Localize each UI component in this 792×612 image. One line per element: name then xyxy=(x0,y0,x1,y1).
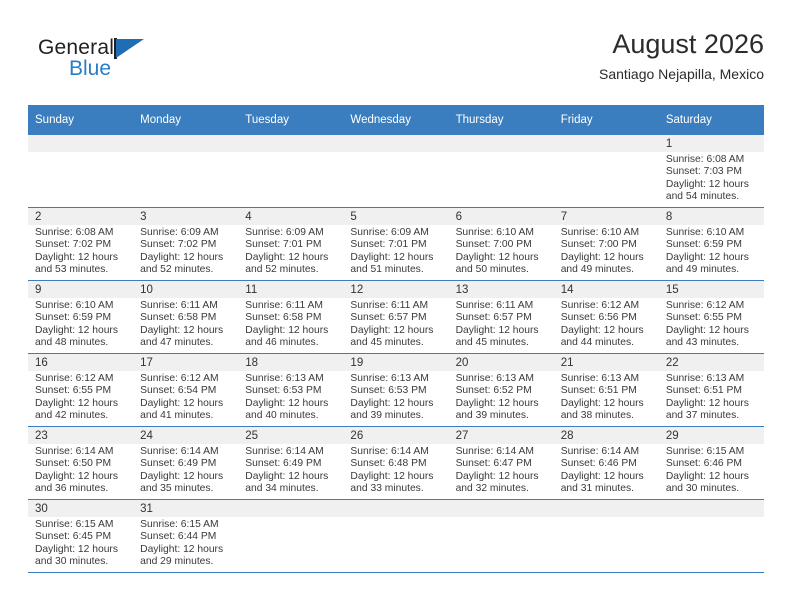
calendar-day-cell[interactable]: 9Sunrise: 6:10 AMSunset: 6:59 PMDaylight… xyxy=(28,281,133,354)
day-number: 9 xyxy=(28,281,133,298)
sunset-time: Sunset: 6:59 PM xyxy=(35,312,129,324)
sunrise-time: Sunrise: 6:12 AM xyxy=(140,373,234,385)
daylight-duration-line2: and 39 minutes. xyxy=(350,410,444,422)
calendar-day-cell[interactable]: 25Sunrise: 6:14 AMSunset: 6:49 PMDayligh… xyxy=(238,427,343,500)
sunrise-time: Sunrise: 6:13 AM xyxy=(456,373,550,385)
calendar-page: General Blue August 2026 Santiago Nejapi… xyxy=(0,0,792,612)
sunset-time: Sunset: 6:45 PM xyxy=(35,531,129,543)
sunset-time: Sunset: 7:00 PM xyxy=(456,239,550,251)
day-sun-details: Sunrise: 6:09 AMSunset: 7:01 PMDaylight:… xyxy=(343,225,448,277)
daylight-duration-line1: Daylight: 12 hours xyxy=(350,471,444,483)
calendar-day-cell[interactable]: 30Sunrise: 6:15 AMSunset: 6:45 PMDayligh… xyxy=(28,500,133,573)
day-sun-details: Sunrise: 6:11 AMSunset: 6:58 PMDaylight:… xyxy=(238,298,343,350)
day-number: 20 xyxy=(449,354,554,371)
day-number: 24 xyxy=(133,427,238,444)
sunrise-time: Sunrise: 6:11 AM xyxy=(140,300,234,312)
sunrise-time: Sunrise: 6:12 AM xyxy=(666,300,760,312)
daylight-duration-line2: and 34 minutes. xyxy=(245,483,339,495)
day-number xyxy=(238,500,343,517)
day-sun-details: Sunrise: 6:13 AMSunset: 6:53 PMDaylight:… xyxy=(343,371,448,423)
day-number: 6 xyxy=(449,208,554,225)
day-number: 25 xyxy=(238,427,343,444)
day-number: 8 xyxy=(659,208,764,225)
day-number: 3 xyxy=(133,208,238,225)
calendar-day-cell[interactable]: 17Sunrise: 6:12 AMSunset: 6:54 PMDayligh… xyxy=(133,354,238,427)
day-sun-details: Sunrise: 6:09 AMSunset: 7:01 PMDaylight:… xyxy=(238,225,343,277)
calendar-day-cell[interactable]: 15Sunrise: 6:12 AMSunset: 6:55 PMDayligh… xyxy=(659,281,764,354)
day-number: 23 xyxy=(28,427,133,444)
calendar-day-cell-empty xyxy=(133,135,238,208)
daylight-duration-line2: and 52 minutes. xyxy=(245,264,339,276)
daylight-duration-line1: Daylight: 12 hours xyxy=(350,398,444,410)
daylight-duration-line1: Daylight: 12 hours xyxy=(35,471,129,483)
sunrise-time: Sunrise: 6:14 AM xyxy=(456,446,550,458)
daylight-duration-line2: and 46 minutes. xyxy=(245,337,339,349)
weekday-header-friday: Friday xyxy=(554,105,659,135)
day-sun-details: Sunrise: 6:14 AMSunset: 6:47 PMDaylight:… xyxy=(449,444,554,496)
sunrise-time: Sunrise: 6:11 AM xyxy=(350,300,444,312)
daylight-duration-line2: and 39 minutes. xyxy=(456,410,550,422)
day-sun-details: Sunrise: 6:10 AMSunset: 7:00 PMDaylight:… xyxy=(554,225,659,277)
weekday-header-tuesday: Tuesday xyxy=(238,105,343,135)
day-sun-details: Sunrise: 6:11 AMSunset: 6:57 PMDaylight:… xyxy=(449,298,554,350)
calendar-week-row: 9Sunrise: 6:10 AMSunset: 6:59 PMDaylight… xyxy=(28,281,764,354)
sunset-time: Sunset: 6:58 PM xyxy=(140,312,234,324)
daylight-duration-line2: and 49 minutes. xyxy=(666,264,760,276)
day-sun-details: Sunrise: 6:14 AMSunset: 6:46 PMDaylight:… xyxy=(554,444,659,496)
daylight-duration-line2: and 37 minutes. xyxy=(666,410,760,422)
calendar-week-row: 30Sunrise: 6:15 AMSunset: 6:45 PMDayligh… xyxy=(28,500,764,573)
day-number xyxy=(449,500,554,517)
daylight-duration-line1: Daylight: 12 hours xyxy=(140,544,234,556)
day-sun-details: Sunrise: 6:12 AMSunset: 6:54 PMDaylight:… xyxy=(133,371,238,423)
sunset-time: Sunset: 6:55 PM xyxy=(666,312,760,324)
daylight-duration-line2: and 41 minutes. xyxy=(140,410,234,422)
daylight-duration-line1: Daylight: 12 hours xyxy=(35,398,129,410)
calendar-day-cell-empty xyxy=(28,135,133,208)
calendar-day-cell[interactable]: 11Sunrise: 6:11 AMSunset: 6:58 PMDayligh… xyxy=(238,281,343,354)
day-number xyxy=(343,135,448,152)
daylight-duration-line1: Daylight: 12 hours xyxy=(561,325,655,337)
day-number: 13 xyxy=(449,281,554,298)
day-number: 1 xyxy=(659,135,764,152)
daylight-duration-line2: and 33 minutes. xyxy=(350,483,444,495)
day-number: 19 xyxy=(343,354,448,371)
sunrise-time: Sunrise: 6:09 AM xyxy=(140,227,234,239)
daylight-duration-line2: and 45 minutes. xyxy=(350,337,444,349)
sunset-time: Sunset: 6:53 PM xyxy=(350,385,444,397)
sunset-time: Sunset: 6:57 PM xyxy=(350,312,444,324)
daylight-duration-line2: and 35 minutes. xyxy=(140,483,234,495)
daylight-duration-line2: and 29 minutes. xyxy=(140,556,234,568)
calendar-day-cell-empty xyxy=(449,500,554,573)
logo-triangle-icon xyxy=(116,39,144,58)
weekday-header-monday: Monday xyxy=(133,105,238,135)
daylight-duration-line1: Daylight: 12 hours xyxy=(245,252,339,264)
day-sun-details: Sunrise: 6:08 AMSunset: 7:03 PMDaylight:… xyxy=(659,152,764,204)
day-sun-details: Sunrise: 6:14 AMSunset: 6:49 PMDaylight:… xyxy=(238,444,343,496)
daylight-duration-line1: Daylight: 12 hours xyxy=(35,325,129,337)
daylight-duration-line1: Daylight: 12 hours xyxy=(140,471,234,483)
day-number: 30 xyxy=(28,500,133,517)
daylight-duration-line1: Daylight: 12 hours xyxy=(561,471,655,483)
daylight-duration-line2: and 43 minutes. xyxy=(666,337,760,349)
sunset-time: Sunset: 6:46 PM xyxy=(561,458,655,470)
day-sun-details: Sunrise: 6:11 AMSunset: 6:57 PMDaylight:… xyxy=(343,298,448,350)
day-sun-details: Sunrise: 6:14 AMSunset: 6:49 PMDaylight:… xyxy=(133,444,238,496)
day-number: 14 xyxy=(554,281,659,298)
daylight-duration-line2: and 45 minutes. xyxy=(456,337,550,349)
daylight-duration-line2: and 50 minutes. xyxy=(456,264,550,276)
daylight-duration-line2: and 44 minutes. xyxy=(561,337,655,349)
calendar-day-cell[interactable]: 26Sunrise: 6:14 AMSunset: 6:48 PMDayligh… xyxy=(343,427,448,500)
calendar-day-cell-empty xyxy=(238,135,343,208)
day-number: 21 xyxy=(554,354,659,371)
calendar-day-cell[interactable]: 10Sunrise: 6:11 AMSunset: 6:58 PMDayligh… xyxy=(133,281,238,354)
sunset-time: Sunset: 7:01 PM xyxy=(350,239,444,251)
day-sun-details: Sunrise: 6:15 AMSunset: 6:45 PMDaylight:… xyxy=(28,517,133,569)
daylight-duration-line2: and 54 minutes. xyxy=(666,191,760,203)
daylight-duration-line1: Daylight: 12 hours xyxy=(140,398,234,410)
sunrise-time: Sunrise: 6:14 AM xyxy=(35,446,129,458)
day-sun-details: Sunrise: 6:08 AMSunset: 7:02 PMDaylight:… xyxy=(28,225,133,277)
sunrise-time: Sunrise: 6:10 AM xyxy=(456,227,550,239)
day-number: 31 xyxy=(133,500,238,517)
sunrise-time: Sunrise: 6:15 AM xyxy=(140,519,234,531)
daylight-duration-line1: Daylight: 12 hours xyxy=(561,252,655,264)
day-number xyxy=(238,135,343,152)
sunset-time: Sunset: 7:02 PM xyxy=(35,239,129,251)
sunset-time: Sunset: 6:49 PM xyxy=(245,458,339,470)
daylight-duration-line1: Daylight: 12 hours xyxy=(35,252,129,264)
calendar-day-cell[interactable]: 18Sunrise: 6:13 AMSunset: 6:53 PMDayligh… xyxy=(238,354,343,427)
daylight-duration-line1: Daylight: 12 hours xyxy=(35,544,129,556)
sunset-time: Sunset: 6:51 PM xyxy=(666,385,760,397)
calendar-day-cell[interactable]: 20Sunrise: 6:13 AMSunset: 6:52 PMDayligh… xyxy=(449,354,554,427)
day-number xyxy=(659,500,764,517)
weekday-header-row: Sunday Monday Tuesday Wednesday Thursday… xyxy=(28,105,764,135)
page-title: August 2026 xyxy=(599,28,764,60)
sunset-time: Sunset: 6:57 PM xyxy=(456,312,550,324)
sunset-time: Sunset: 6:52 PM xyxy=(456,385,550,397)
sunrise-time: Sunrise: 6:13 AM xyxy=(350,373,444,385)
calendar-week-row: 16Sunrise: 6:12 AMSunset: 6:55 PMDayligh… xyxy=(28,354,764,427)
day-number xyxy=(554,500,659,517)
sunrise-time: Sunrise: 6:13 AM xyxy=(561,373,655,385)
daylight-duration-line1: Daylight: 12 hours xyxy=(561,398,655,410)
daylight-duration-line1: Daylight: 12 hours xyxy=(245,471,339,483)
sunrise-time: Sunrise: 6:11 AM xyxy=(456,300,550,312)
sunrise-time: Sunrise: 6:15 AM xyxy=(35,519,129,531)
sunset-time: Sunset: 6:44 PM xyxy=(140,531,234,543)
daylight-duration-line2: and 31 minutes. xyxy=(561,483,655,495)
day-number: 10 xyxy=(133,281,238,298)
daylight-duration-line1: Daylight: 12 hours xyxy=(245,398,339,410)
calendar-week-row: 2Sunrise: 6:08 AMSunset: 7:02 PMDaylight… xyxy=(28,208,764,281)
sunset-time: Sunset: 6:58 PM xyxy=(245,312,339,324)
daylight-duration-line1: Daylight: 12 hours xyxy=(456,325,550,337)
daylight-duration-line2: and 32 minutes. xyxy=(456,483,550,495)
daylight-duration-line2: and 40 minutes. xyxy=(245,410,339,422)
day-sun-details: Sunrise: 6:14 AMSunset: 6:48 PMDaylight:… xyxy=(343,444,448,496)
calendar-day-cell[interactable]: 4Sunrise: 6:09 AMSunset: 7:01 PMDaylight… xyxy=(238,208,343,281)
sunrise-time: Sunrise: 6:08 AM xyxy=(35,227,129,239)
day-number: 27 xyxy=(449,427,554,444)
calendar-day-cell[interactable]: 14Sunrise: 6:12 AMSunset: 6:56 PMDayligh… xyxy=(554,281,659,354)
daylight-duration-line2: and 30 minutes. xyxy=(666,483,760,495)
day-number: 2 xyxy=(28,208,133,225)
day-number xyxy=(28,135,133,152)
day-number: 18 xyxy=(238,354,343,371)
day-number xyxy=(449,135,554,152)
sunset-time: Sunset: 6:56 PM xyxy=(561,312,655,324)
calendar-week-row: 23Sunrise: 6:14 AMSunset: 6:50 PMDayligh… xyxy=(28,427,764,500)
day-number: 28 xyxy=(554,427,659,444)
sunrise-time: Sunrise: 6:13 AM xyxy=(666,373,760,385)
sunrise-time: Sunrise: 6:14 AM xyxy=(350,446,444,458)
calendar-day-cell[interactable]: 12Sunrise: 6:11 AMSunset: 6:57 PMDayligh… xyxy=(343,281,448,354)
daylight-duration-line1: Daylight: 12 hours xyxy=(350,252,444,264)
day-number: 29 xyxy=(659,427,764,444)
calendar-day-cell[interactable]: 8Sunrise: 6:10 AMSunset: 6:59 PMDaylight… xyxy=(659,208,764,281)
day-sun-details: Sunrise: 6:15 AMSunset: 6:46 PMDaylight:… xyxy=(659,444,764,496)
day-sun-details: Sunrise: 6:10 AMSunset: 6:59 PMDaylight:… xyxy=(28,298,133,350)
day-sun-details: Sunrise: 6:14 AMSunset: 6:50 PMDaylight:… xyxy=(28,444,133,496)
day-sun-details: Sunrise: 6:12 AMSunset: 6:56 PMDaylight:… xyxy=(554,298,659,350)
sunrise-time: Sunrise: 6:09 AM xyxy=(350,227,444,239)
sunset-time: Sunset: 7:01 PM xyxy=(245,239,339,251)
sunrise-time: Sunrise: 6:12 AM xyxy=(35,373,129,385)
daylight-duration-line2: and 49 minutes. xyxy=(561,264,655,276)
day-sun-details: Sunrise: 6:13 AMSunset: 6:53 PMDaylight:… xyxy=(238,371,343,423)
daylight-duration-line2: and 53 minutes. xyxy=(35,264,129,276)
daylight-duration-line1: Daylight: 12 hours xyxy=(666,252,760,264)
sunset-time: Sunset: 6:53 PM xyxy=(245,385,339,397)
sunrise-time: Sunrise: 6:12 AM xyxy=(561,300,655,312)
weekday-header-thursday: Thursday xyxy=(449,105,554,135)
day-number: 12 xyxy=(343,281,448,298)
calendar-body: 1Sunrise: 6:08 AMSunset: 7:03 PMDaylight… xyxy=(28,135,764,573)
calendar-day-cell[interactable]: 27Sunrise: 6:14 AMSunset: 6:47 PMDayligh… xyxy=(449,427,554,500)
day-sun-details: Sunrise: 6:13 AMSunset: 6:52 PMDaylight:… xyxy=(449,371,554,423)
day-number: 11 xyxy=(238,281,343,298)
weekday-header-saturday: Saturday xyxy=(659,105,764,135)
daylight-duration-line2: and 30 minutes. xyxy=(35,556,129,568)
general-blue-logo: General Blue xyxy=(38,36,218,92)
day-number xyxy=(554,135,659,152)
calendar-day-cell-empty xyxy=(238,500,343,573)
day-number: 4 xyxy=(238,208,343,225)
day-sun-details: Sunrise: 6:09 AMSunset: 7:02 PMDaylight:… xyxy=(133,225,238,277)
sunset-time: Sunset: 6:49 PM xyxy=(140,458,234,470)
sunset-time: Sunset: 6:54 PM xyxy=(140,385,234,397)
daylight-duration-line1: Daylight: 12 hours xyxy=(350,325,444,337)
sunset-time: Sunset: 6:47 PM xyxy=(456,458,550,470)
calendar-day-cell-empty xyxy=(343,500,448,573)
calendar-day-cell[interactable]: 6Sunrise: 6:10 AMSunset: 7:00 PMDaylight… xyxy=(449,208,554,281)
weekday-header-wednesday: Wednesday xyxy=(343,105,448,135)
title-block: August 2026 Santiago Nejapilla, Mexico xyxy=(599,28,764,83)
sunrise-sunset-calendar: Sunday Monday Tuesday Wednesday Thursday… xyxy=(28,105,764,573)
page-subtitle: Santiago Nejapilla, Mexico xyxy=(599,65,764,83)
day-number: 16 xyxy=(28,354,133,371)
calendar-day-cell[interactable]: 31Sunrise: 6:15 AMSunset: 6:44 PMDayligh… xyxy=(133,500,238,573)
day-sun-details: Sunrise: 6:15 AMSunset: 6:44 PMDaylight:… xyxy=(133,517,238,569)
sunset-time: Sunset: 6:51 PM xyxy=(561,385,655,397)
sunrise-time: Sunrise: 6:13 AM xyxy=(245,373,339,385)
sunrise-time: Sunrise: 6:10 AM xyxy=(666,227,760,239)
daylight-duration-line1: Daylight: 12 hours xyxy=(456,252,550,264)
day-sun-details: Sunrise: 6:12 AMSunset: 6:55 PMDaylight:… xyxy=(659,298,764,350)
calendar-day-cell[interactable]: 19Sunrise: 6:13 AMSunset: 6:53 PMDayligh… xyxy=(343,354,448,427)
day-number: 15 xyxy=(659,281,764,298)
day-sun-details: Sunrise: 6:13 AMSunset: 6:51 PMDaylight:… xyxy=(659,371,764,423)
sunrise-time: Sunrise: 6:14 AM xyxy=(561,446,655,458)
calendar-day-cell[interactable]: 1Sunrise: 6:08 AMSunset: 7:03 PMDaylight… xyxy=(659,135,764,208)
daylight-duration-line1: Daylight: 12 hours xyxy=(245,325,339,337)
sunset-time: Sunset: 6:46 PM xyxy=(666,458,760,470)
calendar-day-cell[interactable]: 23Sunrise: 6:14 AMSunset: 6:50 PMDayligh… xyxy=(28,427,133,500)
calendar-day-cell[interactable]: 7Sunrise: 6:10 AMSunset: 7:00 PMDaylight… xyxy=(554,208,659,281)
daylight-duration-line2: and 38 minutes. xyxy=(561,410,655,422)
calendar-day-cell-empty xyxy=(343,135,448,208)
daylight-duration-line1: Daylight: 12 hours xyxy=(666,398,760,410)
calendar-day-cell[interactable]: 24Sunrise: 6:14 AMSunset: 6:49 PMDayligh… xyxy=(133,427,238,500)
daylight-duration-line1: Daylight: 12 hours xyxy=(456,471,550,483)
daylight-duration-line1: Daylight: 12 hours xyxy=(140,252,234,264)
daylight-duration-line2: and 52 minutes. xyxy=(140,264,234,276)
calendar-day-cell[interactable]: 13Sunrise: 6:11 AMSunset: 6:57 PMDayligh… xyxy=(449,281,554,354)
sunset-time: Sunset: 6:59 PM xyxy=(666,239,760,251)
calendar-day-cell[interactable]: 2Sunrise: 6:08 AMSunset: 7:02 PMDaylight… xyxy=(28,208,133,281)
sunrise-time: Sunrise: 6:14 AM xyxy=(245,446,339,458)
daylight-duration-line1: Daylight: 12 hours xyxy=(666,179,760,191)
daylight-duration-line2: and 51 minutes. xyxy=(350,264,444,276)
day-number: 17 xyxy=(133,354,238,371)
page-header: General Blue August 2026 Santiago Nejapi… xyxy=(28,28,764,98)
sunrise-time: Sunrise: 6:08 AM xyxy=(666,154,760,166)
day-number: 22 xyxy=(659,354,764,371)
sunset-time: Sunset: 7:00 PM xyxy=(561,239,655,251)
sunrise-time: Sunrise: 6:11 AM xyxy=(245,300,339,312)
day-number xyxy=(133,135,238,152)
calendar-day-cell[interactable]: 28Sunrise: 6:14 AMSunset: 6:46 PMDayligh… xyxy=(554,427,659,500)
daylight-duration-line2: and 42 minutes. xyxy=(35,410,129,422)
daylight-duration-line1: Daylight: 12 hours xyxy=(666,325,760,337)
sunset-time: Sunset: 7:03 PM xyxy=(666,166,760,178)
day-number: 26 xyxy=(343,427,448,444)
daylight-duration-line1: Daylight: 12 hours xyxy=(456,398,550,410)
calendar-day-cell-empty xyxy=(554,500,659,573)
sunset-time: Sunset: 7:02 PM xyxy=(140,239,234,251)
sunrise-time: Sunrise: 6:15 AM xyxy=(666,446,760,458)
daylight-duration-line2: and 36 minutes. xyxy=(35,483,129,495)
day-sun-details: Sunrise: 6:11 AMSunset: 6:58 PMDaylight:… xyxy=(133,298,238,350)
sunrise-time: Sunrise: 6:10 AM xyxy=(35,300,129,312)
day-number: 5 xyxy=(343,208,448,225)
sunrise-time: Sunrise: 6:09 AM xyxy=(245,227,339,239)
daylight-duration-line1: Daylight: 12 hours xyxy=(666,471,760,483)
sunset-time: Sunset: 6:48 PM xyxy=(350,458,444,470)
daylight-duration-line2: and 48 minutes. xyxy=(35,337,129,349)
sunrise-time: Sunrise: 6:14 AM xyxy=(140,446,234,458)
calendar-day-cell[interactable]: 29Sunrise: 6:15 AMSunset: 6:46 PMDayligh… xyxy=(659,427,764,500)
daylight-duration-line2: and 47 minutes. xyxy=(140,337,234,349)
calendar-day-cell-empty xyxy=(659,500,764,573)
day-sun-details: Sunrise: 6:12 AMSunset: 6:55 PMDaylight:… xyxy=(28,371,133,423)
calendar-day-cell[interactable]: 21Sunrise: 6:13 AMSunset: 6:51 PMDayligh… xyxy=(554,354,659,427)
sunset-time: Sunset: 6:55 PM xyxy=(35,385,129,397)
calendar-day-cell-empty xyxy=(554,135,659,208)
calendar-day-cell[interactable]: 5Sunrise: 6:09 AMSunset: 7:01 PMDaylight… xyxy=(343,208,448,281)
sunrise-time: Sunrise: 6:10 AM xyxy=(561,227,655,239)
day-number xyxy=(343,500,448,517)
weekday-header-sunday: Sunday xyxy=(28,105,133,135)
daylight-duration-line1: Daylight: 12 hours xyxy=(140,325,234,337)
day-sun-details: Sunrise: 6:13 AMSunset: 6:51 PMDaylight:… xyxy=(554,371,659,423)
day-sun-details: Sunrise: 6:10 AMSunset: 6:59 PMDaylight:… xyxy=(659,225,764,277)
calendar-week-row: 1Sunrise: 6:08 AMSunset: 7:03 PMDaylight… xyxy=(28,135,764,208)
logo-text-blue: Blue xyxy=(69,57,111,81)
day-number: 7 xyxy=(554,208,659,225)
calendar-day-cell[interactable]: 22Sunrise: 6:13 AMSunset: 6:51 PMDayligh… xyxy=(659,354,764,427)
calendar-day-cell[interactable]: 16Sunrise: 6:12 AMSunset: 6:55 PMDayligh… xyxy=(28,354,133,427)
sunset-time: Sunset: 6:50 PM xyxy=(35,458,129,470)
calendar-day-cell-empty xyxy=(449,135,554,208)
day-sun-details: Sunrise: 6:10 AMSunset: 7:00 PMDaylight:… xyxy=(449,225,554,277)
calendar-day-cell[interactable]: 3Sunrise: 6:09 AMSunset: 7:02 PMDaylight… xyxy=(133,208,238,281)
